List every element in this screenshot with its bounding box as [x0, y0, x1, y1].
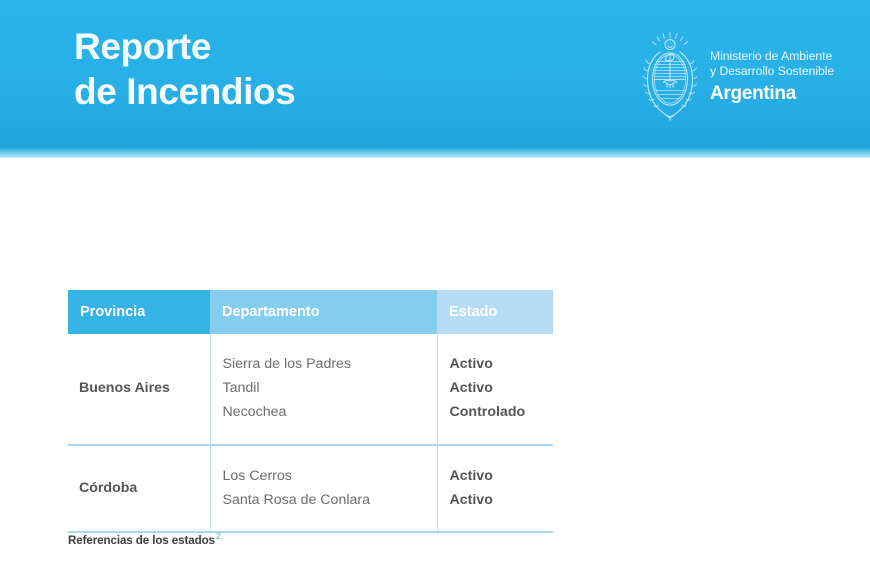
page-title: Reporte de Incendios [74, 24, 295, 114]
footnote-references: Referencias de los estados2 [68, 531, 221, 547]
table-header-row: Provincia Departamento Estado [68, 290, 553, 334]
departamento-item: Necochea [223, 400, 437, 424]
page-header-band: Reporte de Incendios [0, 0, 870, 158]
fires-table: Provincia Departamento Estado Buenos Air… [68, 290, 553, 533]
cell-estado: Activo Activo [437, 445, 553, 532]
footnote-marker: 2 [216, 531, 221, 541]
departamento-item: Tandil [223, 376, 437, 400]
departamento-item: Santa Rosa de Conlara [223, 488, 437, 512]
status-badge: Activo [450, 352, 554, 376]
status-badge: Controlado [450, 400, 554, 424]
footnote-label: Referencias de los estados [68, 534, 215, 547]
argentina-coat-of-arms-icon [641, 30, 699, 122]
table-row: Córdoba Los Cerros Santa Rosa de Conlara… [68, 445, 553, 532]
logo-text-block: Ministerio de Ambiente y Desarrollo Sost… [710, 47, 834, 106]
cell-provincia: Buenos Aires [68, 334, 210, 445]
country-name: Argentina [710, 82, 834, 106]
ministry-logo-lockup: Ministerio de Ambiente y Desarrollo Sost… [641, 30, 834, 122]
cell-estado: Activo Activo Controlado [437, 334, 553, 445]
cell-departamento: Sierra de los Padres Tandil Necochea [210, 334, 437, 445]
status-badge: Activo [450, 464, 554, 488]
table-row: Buenos Aires Sierra de los Padres Tandil… [68, 334, 553, 445]
ministry-name: Ministerio de Ambiente y Desarrollo Sost… [710, 49, 834, 80]
departamento-item: Los Cerros [223, 464, 437, 488]
fires-table-head: Provincia Departamento Estado [68, 290, 553, 334]
column-header-estado: Estado [437, 290, 553, 334]
fires-table-body: Buenos Aires Sierra de los Padres Tandil… [68, 334, 553, 532]
report-page: Reporte de Incendios [0, 0, 870, 580]
cell-departamento: Los Cerros Santa Rosa de Conlara [210, 445, 437, 532]
departamento-item: Sierra de los Padres [223, 352, 437, 376]
column-header-departamento: Departamento [210, 290, 437, 334]
column-header-provincia: Provincia [68, 290, 210, 334]
status-badge: Activo [450, 488, 554, 512]
cell-provincia: Córdoba [68, 445, 210, 532]
status-badge: Activo [450, 376, 554, 400]
